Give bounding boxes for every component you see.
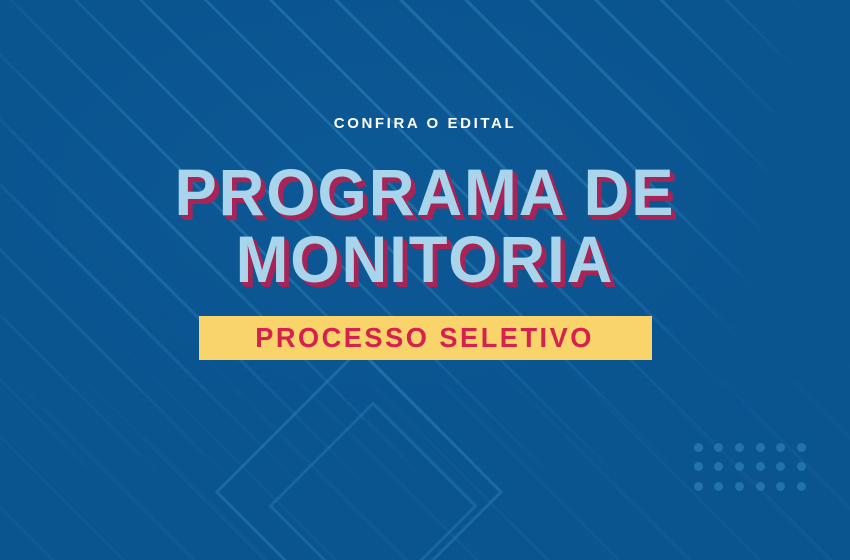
ribbon-badge: PROCESSO SELETIVO	[199, 316, 652, 360]
headline-line-1: PROGRAMA DE	[174, 161, 675, 224]
ribbon-label: PROCESSO SELETIVO	[256, 324, 595, 352]
headline-line-2: MONITORIA	[174, 228, 675, 291]
kicker-text: CONFIRA O EDITAL	[334, 116, 516, 131]
page-title: PROGRAMA DE MONITORIA	[164, 161, 686, 292]
promotional-banner: CONFIRA O EDITAL PROGRAMA DE MONITORIA P…	[0, 0, 850, 560]
banner-content: CONFIRA O EDITAL PROGRAMA DE MONITORIA P…	[0, 0, 850, 560]
